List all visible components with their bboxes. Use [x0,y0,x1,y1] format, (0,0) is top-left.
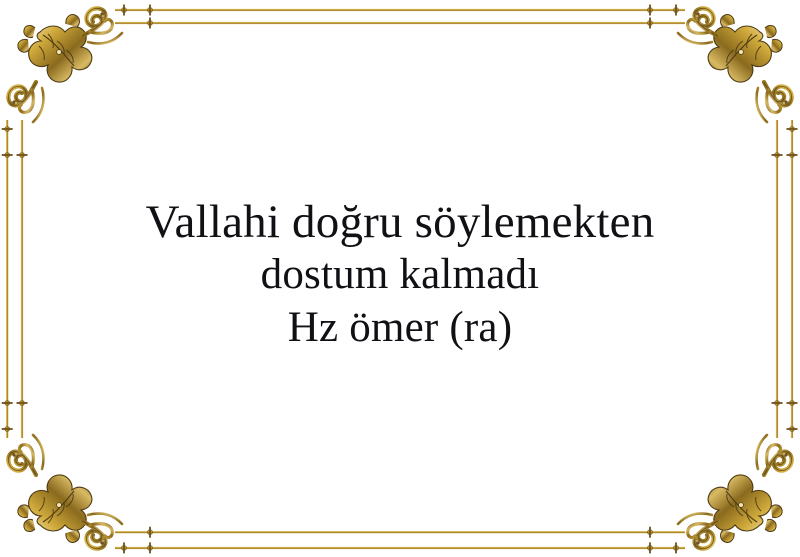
quote-attribution: Hz ömer (ra) [40,301,760,355]
quote-line-2: dostum kalmadı [40,249,760,301]
corner-ornament-top-left [8,8,122,122]
quote-text-block: Vallahi doğru söylemekten dostum kalmadı… [40,196,760,355]
quote-line-1: Vallahi doğru söylemekten [40,196,760,249]
quote-card: Vallahi doğru söylemekten dostum kalmadı… [0,0,800,557]
corner-ornament-top-right [678,8,792,122]
corner-ornament-bottom-left [8,435,122,549]
corner-ornament-bottom-right [678,435,792,549]
